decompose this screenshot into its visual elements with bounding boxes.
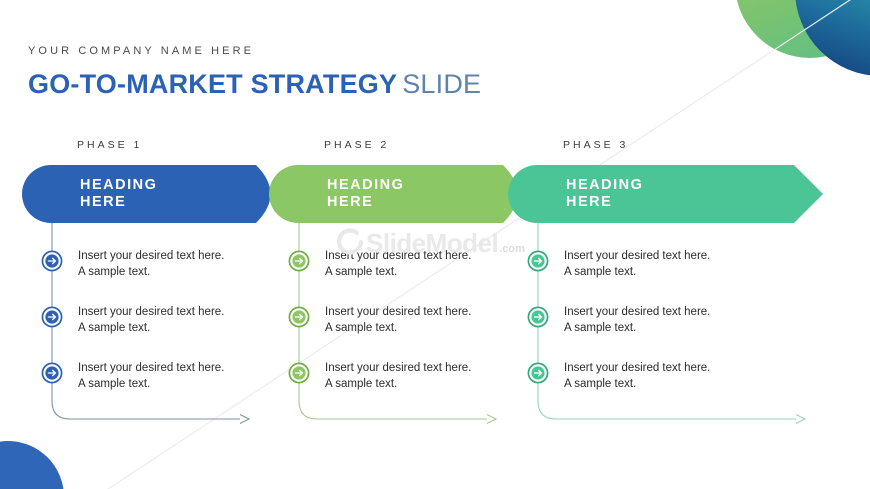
phase-heading-2-line1: HEADING — [327, 177, 532, 194]
bullet-item: Insert your desired text here. A sample … — [288, 249, 471, 280]
bullet-text-line1: Insert your desired text here. — [78, 361, 224, 377]
bullet-text: Insert your desired text here. A sample … — [564, 305, 710, 336]
circle-arrow-right-icon — [288, 306, 310, 328]
bullet-item: Insert your desired text here. A sample … — [527, 361, 710, 392]
bullet-item: Insert your desired text here. A sample … — [288, 305, 471, 336]
bullet-text: Insert your desired text here. A sample … — [325, 305, 471, 336]
bullet-item: Insert your desired text here. A sample … — [288, 361, 471, 392]
circle-arrow-right-icon — [527, 306, 549, 328]
bullet-text-line1: Insert your desired text here. — [564, 305, 710, 321]
bullet-item: Insert your desired text here. A sample … — [527, 305, 710, 336]
bullet-text-line1: Insert your desired text here. — [564, 249, 710, 265]
bullet-text: Insert your desired text here. A sample … — [78, 249, 224, 280]
slide-canvas: YOUR COMPANY NAME HERE GO-TO-MARKET STRA… — [0, 0, 870, 489]
bullet-text-line2: A sample text. — [78, 377, 224, 393]
phase-label-1: PHASE 1 — [77, 139, 142, 151]
phase-heading-1-line2: HERE — [80, 194, 285, 211]
phase-label-3: PHASE 3 — [563, 139, 628, 151]
bullet-text: Insert your desired text here. A sample … — [78, 305, 224, 336]
circle-arrow-right-icon — [527, 362, 549, 384]
bullet-text-line2: A sample text. — [325, 321, 471, 337]
bullet-item: Insert your desired text here. A sample … — [527, 249, 710, 280]
bullet-text-line1: Insert your desired text here. — [78, 305, 224, 321]
bullet-text-line1: Insert your desired text here. — [78, 249, 224, 265]
bullet-text-line1: Insert your desired text here. — [325, 249, 471, 265]
bullet-text-line2: A sample text. — [78, 321, 224, 337]
bullet-text: Insert your desired text here. A sample … — [564, 361, 710, 392]
phase-heading-1: HEADING HERE — [80, 177, 285, 211]
circle-arrow-right-icon — [527, 250, 549, 272]
circle-arrow-right-icon — [41, 250, 63, 272]
bullet-text-line2: A sample text. — [564, 377, 710, 393]
phase-heading-3: HEADING HERE — [566, 177, 823, 211]
circle-arrow-right-icon — [41, 306, 63, 328]
bullet-text-line1: Insert your desired text here. — [564, 361, 710, 377]
bullet-text: Insert your desired text here. A sample … — [78, 361, 224, 392]
phase-heading-3-line1: HEADING — [566, 177, 823, 194]
circle-arrow-right-icon — [41, 362, 63, 384]
bullet-text: Insert your desired text here. A sample … — [564, 249, 710, 280]
bullet-text-line2: A sample text. — [325, 377, 471, 393]
phase-heading-2: HEADING HERE — [327, 177, 532, 211]
phase-heading-1-line1: HEADING — [80, 177, 285, 194]
bullet-item: Insert your desired text here. A sample … — [41, 361, 224, 392]
phase-label-2: PHASE 2 — [324, 139, 389, 151]
circle-arrow-right-icon — [288, 250, 310, 272]
bullet-text-line2: A sample text. — [325, 265, 471, 281]
bullet-text: Insert your desired text here. A sample … — [325, 249, 471, 280]
bullet-text-line1: Insert your desired text here. — [325, 361, 471, 377]
bullet-item: Insert your desired text here. A sample … — [41, 249, 224, 280]
circle-arrow-right-icon — [288, 362, 310, 384]
phase-banner-3[interactable]: HEADING HERE — [508, 165, 823, 223]
bullet-text-line2: A sample text. — [564, 265, 710, 281]
bullet-text: Insert your desired text here. A sample … — [325, 361, 471, 392]
bullet-text-line2: A sample text. — [78, 265, 224, 281]
phase-banner-2[interactable]: HEADING HERE — [269, 165, 532, 223]
phase-columns: PHASE 1 HEADING HERE — [0, 0, 870, 489]
bullet-text-line1: Insert your desired text here. — [325, 305, 471, 321]
phase-heading-3-line2: HERE — [566, 194, 823, 211]
bullet-item: Insert your desired text here. A sample … — [41, 305, 224, 336]
phase-banner-1[interactable]: HEADING HERE — [22, 165, 285, 223]
phase-heading-2-line2: HERE — [327, 194, 532, 211]
bullet-text-line2: A sample text. — [564, 321, 710, 337]
